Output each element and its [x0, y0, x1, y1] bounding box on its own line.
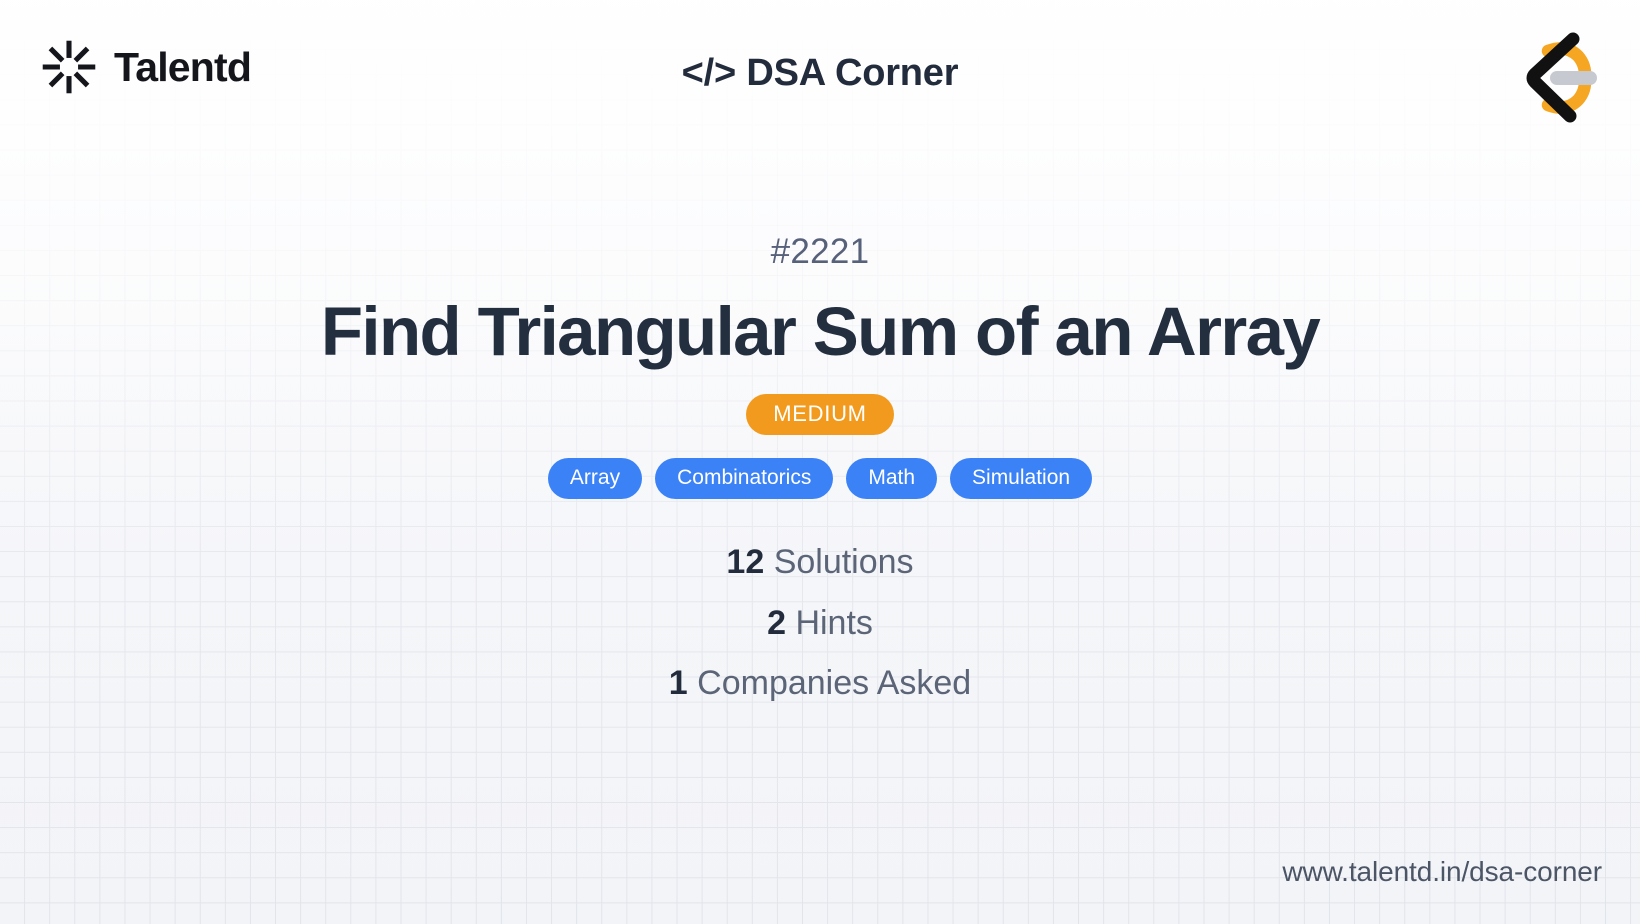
- difficulty-badge: MEDIUM: [746, 394, 893, 435]
- header: Talentd </> DSA Corner: [0, 0, 1640, 152]
- problem-number: #2221: [771, 234, 870, 269]
- topic-tag-math[interactable]: Math: [846, 458, 937, 499]
- footer-url[interactable]: www.talentd.in/dsa-corner: [1282, 856, 1602, 888]
- stat-solutions: 12 Solutions: [726, 541, 913, 584]
- dsa-corner-problem-card: Talentd </> DSA Corner #2221 Find Triang…: [0, 0, 1640, 924]
- stat-solutions-label: Solutions: [774, 543, 914, 581]
- stat-solutions-value: 12: [726, 543, 764, 581]
- c-chevron-logo-icon: [1504, 26, 1612, 130]
- footer: www.talentd.in/dsa-corner: [1282, 856, 1602, 888]
- topic-tag-simulation[interactable]: Simulation: [950, 458, 1092, 499]
- problem-stats: 12 Solutions 2 Hints 1 Companies Asked: [669, 541, 971, 705]
- stat-companies-value: 1: [669, 664, 688, 702]
- problem-title: Find Triangular Sum of an Array: [321, 295, 1319, 368]
- stat-companies: 1 Companies Asked: [669, 662, 971, 705]
- stat-hints-label: Hints: [795, 604, 872, 642]
- stat-companies-label: Companies Asked: [697, 664, 971, 702]
- topic-tag-array[interactable]: Array: [548, 458, 642, 499]
- page-title: </> DSA Corner: [0, 52, 1640, 95]
- stat-hints: 2 Hints: [767, 602, 873, 645]
- topic-tag-list: Array Combinatorics Math Simulation: [548, 458, 1092, 499]
- topic-tag-combinatorics[interactable]: Combinatorics: [655, 458, 833, 499]
- stat-hints-value: 2: [767, 604, 786, 642]
- problem-main: #2221 Find Triangular Sum of an Array ME…: [0, 152, 1640, 814]
